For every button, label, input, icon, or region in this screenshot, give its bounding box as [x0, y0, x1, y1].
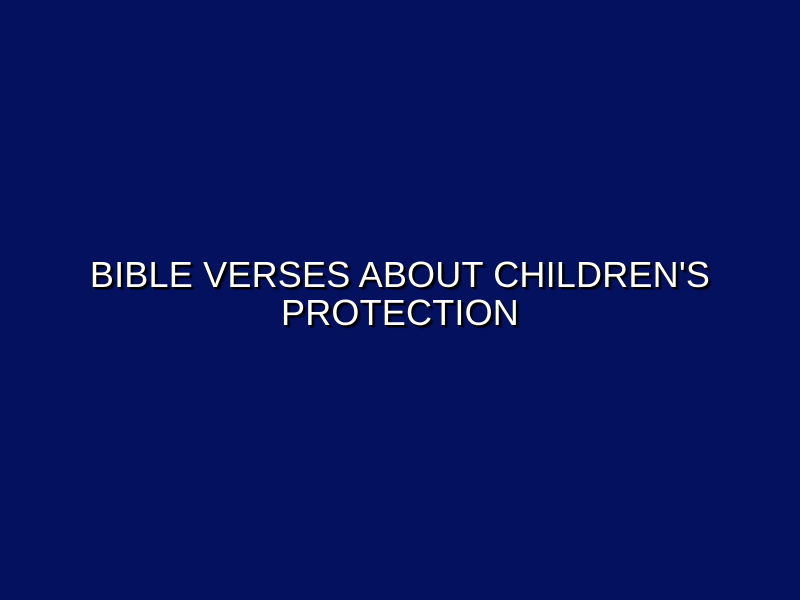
title-card: BIBLE VERSES ABOUT CHILDREN'S PROTECTION: [0, 0, 800, 600]
page-title: BIBLE VERSES ABOUT CHILDREN'S PROTECTION: [80, 256, 720, 332]
headline-block: BIBLE VERSES ABOUT CHILDREN'S PROTECTION: [80, 256, 720, 332]
